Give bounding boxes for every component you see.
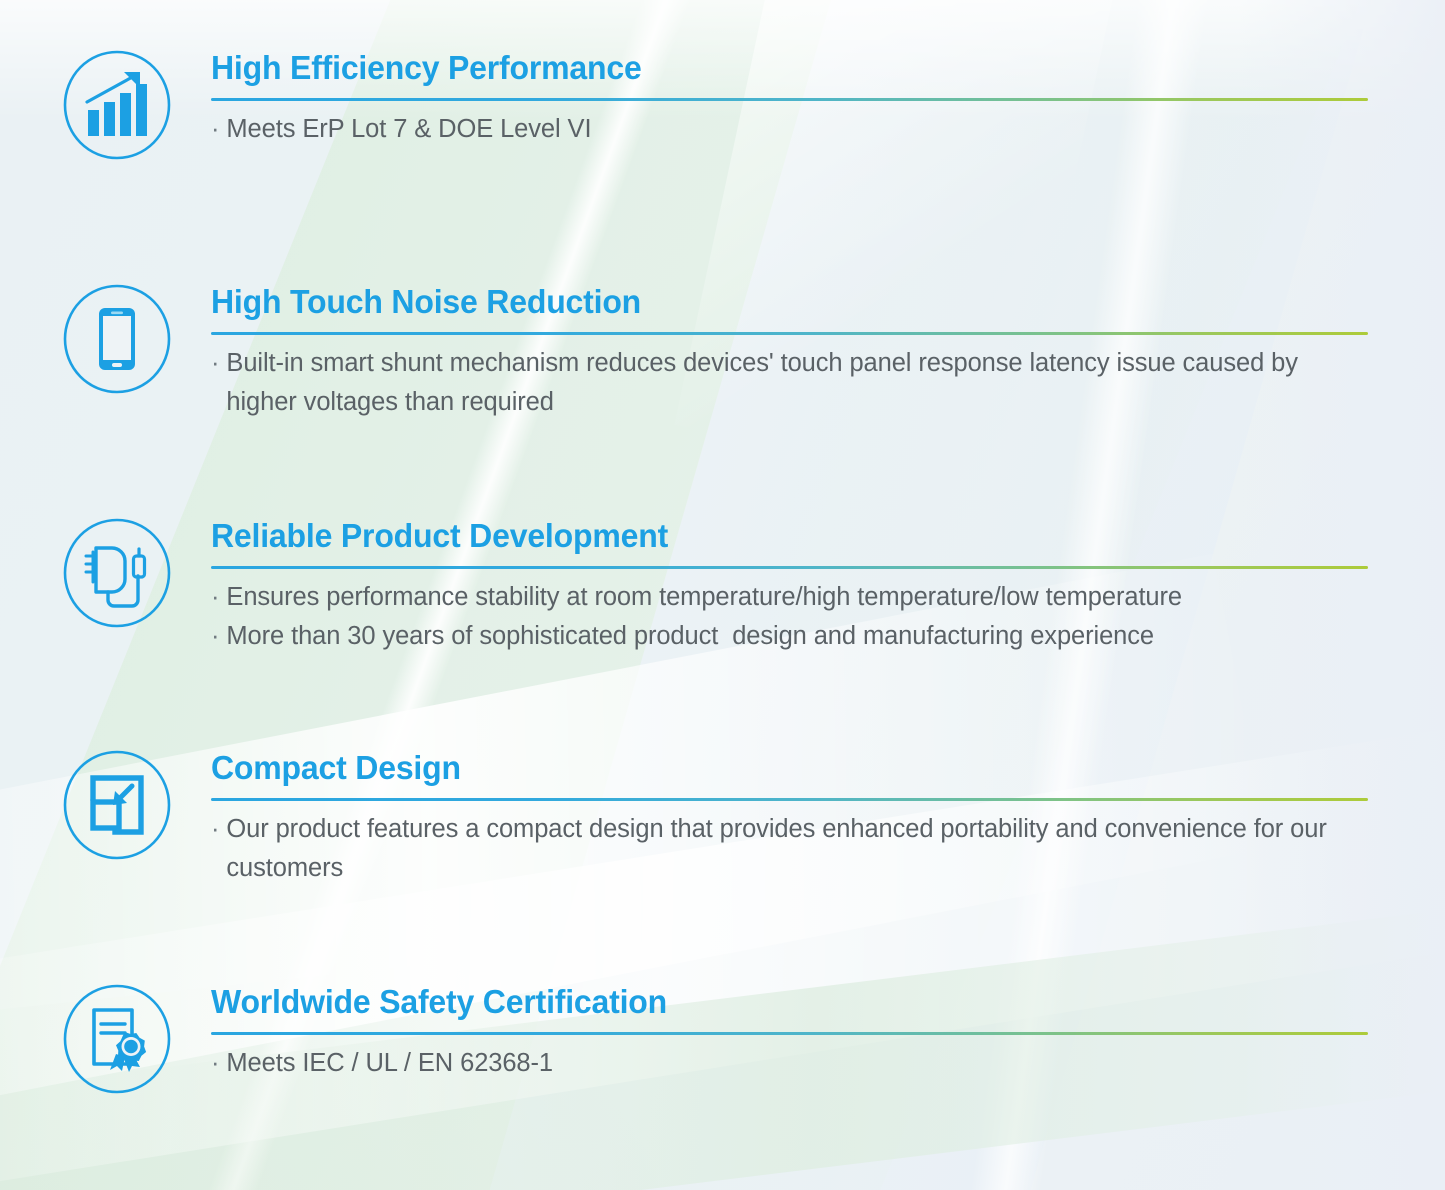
feature-title: Compact Design (211, 750, 1336, 787)
bullet-text: Ensures performance stability at room te… (226, 578, 1182, 617)
bullet-item: · Our product features a compact design … (211, 810, 1371, 888)
bullet-text: More than 30 years of sophisticated prod… (226, 617, 1154, 656)
bar-chart-growth-icon (60, 48, 174, 162)
feature-bullets: · Meets ErP Lot 7 & DOE Level VI (211, 110, 1371, 149)
bullet-text: Our product features a compact design th… (226, 810, 1371, 888)
bullet-text: Meets IEC / UL / EN 62368-1 (226, 1044, 553, 1083)
feature-row-high-efficiency-performance: High Efficiency Performance · Meets ErP … (0, 48, 1445, 162)
feature-title: Reliable Product Development (211, 518, 1336, 555)
bullet-marker: · (211, 578, 219, 617)
feature-divider (211, 798, 1368, 801)
bullet-marker: · (211, 810, 219, 849)
bullet-text: Meets ErP Lot 7 & DOE Level VI (226, 110, 591, 149)
bullet-item: · More than 30 years of sophisticated pr… (211, 617, 1371, 656)
feature-row-high-touch-noise-reduction: High Touch Noise Reduction · Built-in sm… (0, 282, 1445, 421)
bullet-marker: · (211, 110, 219, 149)
feature-text-block: Worldwide Safety Certification · Meets I… (211, 982, 1371, 1083)
feature-bullets: · Meets IEC / UL / EN 62368-1 (211, 1044, 1371, 1083)
certificate-seal-icon (60, 982, 174, 1096)
feature-title: Worldwide Safety Certification (211, 984, 1336, 1021)
compact-resize-icon (60, 748, 174, 862)
feature-divider (211, 1032, 1368, 1035)
bullet-item: · Meets ErP Lot 7 & DOE Level VI (211, 110, 1371, 149)
bullet-marker: · (211, 344, 219, 383)
power-adapter-icon (60, 516, 174, 630)
feature-bullets: · Built-in smart shunt mechanism reduces… (211, 344, 1371, 422)
bullet-item: · Built-in smart shunt mechanism reduces… (211, 344, 1371, 422)
feature-text-block: High Efficiency Performance · Meets ErP … (211, 48, 1371, 149)
feature-bullets: · Our product features a compact design … (211, 810, 1371, 888)
smartphone-icon (60, 282, 174, 396)
bullet-item: · Meets IEC / UL / EN 62368-1 (211, 1044, 1371, 1083)
feature-text-block: Reliable Product Development · Ensures p… (211, 516, 1371, 655)
feature-list-page: High Efficiency Performance · Meets ErP … (0, 0, 1445, 1190)
feature-row-worldwide-safety-certification: Worldwide Safety Certification · Meets I… (0, 982, 1445, 1096)
feature-row-reliable-product-development: Reliable Product Development · Ensures p… (0, 516, 1445, 655)
feature-title: High Touch Noise Reduction (211, 284, 1336, 321)
bullet-marker: · (211, 1044, 219, 1083)
feature-divider (211, 332, 1368, 335)
feature-divider (211, 98, 1368, 101)
bullet-text: Built-in smart shunt mechanism reduces d… (226, 344, 1371, 422)
feature-title: High Efficiency Performance (211, 50, 1336, 87)
bullet-marker: · (211, 617, 219, 656)
feature-row-compact-design: Compact Design · Our product features a … (0, 748, 1445, 887)
feature-divider (211, 566, 1368, 569)
feature-text-block: High Touch Noise Reduction · Built-in sm… (211, 282, 1371, 421)
feature-bullets: · Ensures performance stability at room … (211, 578, 1371, 656)
feature-text-block: Compact Design · Our product features a … (211, 748, 1371, 887)
bullet-item: · Ensures performance stability at room … (211, 578, 1371, 617)
